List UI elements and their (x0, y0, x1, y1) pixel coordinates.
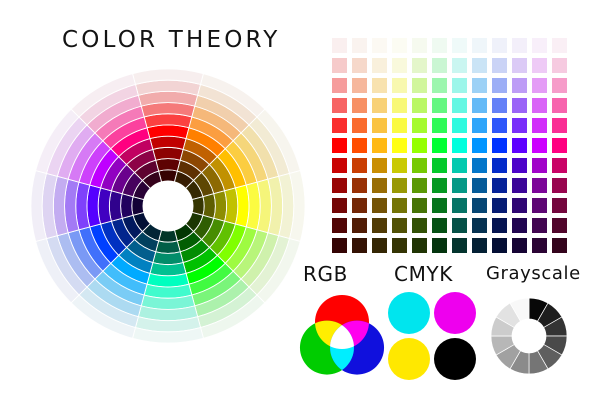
swatch-yellow-shade-5 (392, 238, 407, 253)
grayscale-wheel (491, 298, 567, 374)
swatch-pink-shade-1 (552, 158, 567, 173)
wheel-segment-pink-9 (79, 84, 138, 124)
swatch-blue-tint-4 (492, 58, 507, 73)
grayscale-segment-5 (538, 345, 562, 369)
wheel-segment-pink-8 (87, 95, 141, 133)
swatch-teal-tint-2 (452, 98, 467, 113)
swatch-yellow-pure (392, 138, 407, 153)
swatch-blue-pure (492, 138, 507, 153)
swatch-amber-pure (372, 138, 387, 153)
grayscale-segment-12 (510, 298, 529, 321)
swatch-azure-tint-1 (472, 118, 487, 133)
grayscale-segment-7 (510, 351, 529, 374)
wheel-segment-red-5 (147, 125, 189, 139)
wheel-segment-blue-9 (46, 236, 86, 295)
wheel-segment-teal-7 (141, 295, 195, 309)
wheel-segment-amber-3 (202, 165, 225, 194)
swatch-azure-tint-2 (472, 98, 487, 113)
swatch-purple-tint-1 (532, 118, 547, 133)
swatch-lime-shade-2 (412, 178, 427, 193)
wheel-segment-purple-9 (46, 117, 86, 176)
infographic-artwork (0, 0, 600, 400)
swatch-yellow-shade-2 (392, 178, 407, 193)
grayscale-label: Grayscale (486, 263, 581, 284)
wheel-segment-blue-5 (90, 224, 119, 263)
wheel-segment-amber-9 (249, 117, 289, 176)
swatch-red-shade-3 (332, 198, 347, 213)
swatch-blue-tint-5 (492, 38, 507, 53)
wheel-segment-amber-10 (257, 109, 300, 173)
swatch-amber-shade-4 (372, 218, 387, 233)
swatch-purple-shade-2 (532, 178, 547, 193)
wheel-segment-blue-2 (122, 215, 142, 239)
swatch-yellow-shade-3 (392, 198, 407, 213)
swatch-green-shade-3 (432, 198, 447, 213)
swatch-violet-shade-2 (512, 178, 527, 193)
wheel-segment-pink-7 (95, 106, 144, 141)
wheel-segment-azure-8 (87, 279, 141, 317)
wheel-segment-azure-9 (79, 287, 138, 327)
swatch-green-tint-2 (432, 98, 447, 113)
swatch-red-pure (332, 138, 347, 153)
swatch-green-shade-4 (432, 218, 447, 233)
wheel-segment-yellow-9 (279, 173, 294, 238)
swatch-purple-tint-3 (532, 78, 547, 93)
swatch-blue-shade-5 (492, 238, 507, 253)
rgb-circle-green (300, 321, 354, 375)
cmyk-circle-cyan (388, 292, 430, 334)
page-title: COLOR THEORY (62, 27, 281, 53)
swatch-azure-tint-4 (472, 58, 487, 73)
wheel-segment-lime-7 (233, 230, 268, 279)
swatch-green-tint-3 (432, 78, 447, 93)
swatch-yellow-tint-5 (392, 38, 407, 53)
swatch-yellow-shade-4 (392, 218, 407, 233)
wheel-segment-green-2 (177, 232, 201, 252)
wheel-segment-green-3 (180, 240, 209, 263)
swatch-amber-shade-2 (372, 178, 387, 193)
swatch-yellow-tint-2 (392, 98, 407, 113)
wheel-segment-red-1 (159, 170, 178, 182)
swatch-yellow-tint-1 (392, 118, 407, 133)
wheel-segment-teal-3 (153, 252, 183, 265)
wheel-segment-pink-2 (134, 160, 158, 180)
wheel-segment-pink-1 (142, 171, 161, 188)
wheel-segment-lime-10 (257, 239, 300, 303)
wheel-segment-teal-10 (133, 328, 204, 343)
rgb-circle-blue (330, 321, 384, 375)
wheel-segment-purple-5 (90, 149, 119, 188)
wheel-segment-red-7 (141, 103, 195, 117)
swatch-pink-tint-2 (552, 98, 567, 113)
wheel-segment-violet-5 (87, 185, 101, 227)
wheel-segment-pink-5 (111, 128, 150, 157)
rgb-overlap-cyan (282, 278, 402, 398)
swatch-teal-shade-4 (452, 218, 467, 233)
wheel-segment-violet-1 (132, 197, 144, 216)
swatch-lime-shade-5 (412, 238, 427, 253)
swatch-pink-tint-4 (552, 58, 567, 73)
wheel-segment-amber-4 (209, 157, 235, 191)
swatch-red-shade-1 (332, 158, 347, 173)
swatch-green-tint-5 (432, 38, 447, 53)
wheel-segment-yellow-6 (246, 182, 260, 230)
swatch-purple-tint-5 (532, 38, 547, 53)
wheel-segment-green-9 (198, 287, 257, 327)
swatch-red-shade-4 (332, 218, 347, 233)
grayscale-segment-11 (496, 303, 520, 327)
swatch-red-tint-5 (332, 38, 347, 53)
rgb-additive-diagram (282, 278, 402, 398)
swatch-orange-shade-3 (352, 198, 367, 213)
swatch-blue-shade-3 (492, 198, 507, 213)
wheel-segment-violet-9 (42, 173, 57, 238)
swatch-yellow-shade-1 (392, 158, 407, 173)
wheel-segment-orange-9 (198, 84, 257, 124)
wheel-segment-azure-6 (103, 263, 147, 295)
wheel-segment-yellow-1 (192, 197, 204, 216)
swatch-pink-pure (552, 138, 567, 153)
swatch-green-tint-1 (432, 118, 447, 133)
wheel-segment-azure-3 (127, 240, 156, 263)
wheel-segment-blue-1 (133, 212, 150, 231)
wheel-segment-green-6 (189, 263, 233, 295)
swatch-blue-shade-4 (492, 218, 507, 233)
swatch-violet-pure (512, 138, 527, 153)
swatch-violet-tint-1 (512, 118, 527, 133)
swatch-orange-shade-1 (352, 158, 367, 173)
wheel-segment-yellow-2 (203, 194, 215, 219)
wheel-segment-azure-4 (119, 247, 153, 273)
wheel-segment-yellow-5 (235, 185, 249, 227)
wheel-segment-teal-1 (159, 230, 178, 242)
swatch-grid (332, 38, 567, 253)
wheel-segment-green-1 (174, 224, 193, 241)
swatch-blue-tint-3 (492, 78, 507, 93)
swatch-blue-tint-1 (492, 118, 507, 133)
wheel-segment-blue-8 (57, 233, 95, 287)
wheel-segment-purple-3 (111, 165, 134, 194)
wheel-segment-orange-7 (192, 106, 241, 141)
color-wheel (31, 69, 305, 343)
wheel-segment-azure-10 (71, 295, 135, 338)
wheel-segment-red-10 (133, 69, 204, 84)
swatch-violet-tint-2 (512, 98, 527, 113)
grayscale-segment-6 (529, 351, 548, 374)
swatch-lime-tint-4 (412, 58, 427, 73)
swatch-lime-tint-3 (412, 78, 427, 93)
wheel-segment-violet-10 (31, 171, 46, 242)
wheel-segment-orange-3 (180, 149, 209, 172)
wheel-segment-blue-3 (111, 218, 134, 247)
swatch-orange-tint-1 (352, 118, 367, 133)
wheel-segment-amber-2 (194, 172, 214, 196)
wheel-segment-amber-5 (217, 149, 246, 188)
swatch-orange-tint-4 (352, 58, 367, 73)
swatch-pink-shade-4 (552, 218, 567, 233)
cmyk-subtractive-diagram (388, 292, 476, 380)
swatch-pink-shade-2 (552, 178, 567, 193)
wheel-segment-yellow-4 (225, 188, 238, 224)
swatch-purple-pure (532, 138, 547, 153)
swatch-yellow-tint-3 (392, 78, 407, 93)
swatch-blue-shade-2 (492, 178, 507, 193)
swatch-lime-tint-5 (412, 38, 427, 53)
swatch-teal-shade-2 (452, 178, 467, 193)
wheel-segment-red-4 (150, 136, 186, 149)
swatch-amber-shade-5 (372, 238, 387, 253)
swatch-green-shade-1 (432, 158, 447, 173)
wheel-segment-pink-6 (103, 117, 147, 149)
swatch-purple-tint-2 (532, 98, 547, 113)
wheel-segment-azure-7 (95, 271, 144, 306)
swatch-azure-shade-4 (472, 218, 487, 233)
wheel-segment-green-4 (183, 247, 217, 273)
cmyk-label: CMYK (394, 262, 453, 286)
wheel-segment-orange-4 (183, 139, 217, 165)
wheel-segment-blue-7 (68, 230, 103, 279)
swatch-amber-tint-2 (372, 98, 387, 113)
swatch-red-tint-2 (332, 98, 347, 113)
wheel-segment-purple-4 (101, 157, 127, 191)
swatch-purple-shade-5 (532, 238, 547, 253)
swatch-orange-shade-5 (352, 238, 367, 253)
wheel-segment-azure-2 (134, 232, 158, 252)
swatch-red-tint-4 (332, 58, 347, 73)
wheel-segment-azure-1 (142, 224, 161, 241)
wheel-segment-yellow-8 (268, 176, 283, 235)
wheel-segment-lime-5 (217, 224, 246, 263)
swatch-violet-shade-1 (512, 158, 527, 173)
rgb-circle-red (315, 295, 369, 349)
wheel-segment-lime-3 (202, 218, 225, 247)
wheel-segment-orange-10 (201, 74, 265, 117)
grayscale-segment-8 (496, 345, 520, 369)
wheel-segment-purple-1 (133, 180, 150, 199)
wheel-segment-yellow-3 (214, 191, 227, 221)
swatch-red-tint-1 (332, 118, 347, 133)
swatch-azure-shade-2 (472, 178, 487, 193)
wheel-segment-teal-2 (156, 241, 181, 253)
wheel-segment-green-5 (186, 255, 225, 284)
swatch-azure-tint-5 (472, 38, 487, 53)
swatch-lime-shade-1 (412, 158, 427, 173)
swatch-red-shade-2 (332, 178, 347, 193)
wheel-segment-lime-6 (225, 227, 257, 271)
swatch-lime-pure (412, 138, 427, 153)
swatch-teal-shade-1 (452, 158, 467, 173)
swatch-lime-tint-2 (412, 98, 427, 113)
swatch-orange-pure (352, 138, 367, 153)
rgb-label: RGB (303, 262, 348, 286)
swatch-violet-tint-3 (512, 78, 527, 93)
wheel-segment-azure-5 (111, 255, 150, 284)
rgb-overlap-yellow (282, 278, 402, 398)
swatch-teal-shade-3 (452, 198, 467, 213)
wheel-segment-orange-5 (186, 128, 225, 157)
grayscale-segment-1 (529, 298, 548, 321)
swatch-green-pure (432, 138, 447, 153)
swatch-purple-shade-3 (532, 198, 547, 213)
wheel-segment-red-9 (135, 80, 200, 95)
swatch-blue-tint-2 (492, 98, 507, 113)
swatch-purple-shade-1 (532, 158, 547, 173)
wheel-segment-teal-6 (144, 284, 192, 298)
wheel-segment-green-10 (201, 295, 265, 338)
wheel-segment-violet-7 (65, 179, 79, 233)
wheel-segment-red-6 (144, 114, 192, 128)
wheel-segment-orange-6 (189, 117, 233, 149)
wheel-segment-lime-4 (209, 221, 235, 255)
swatch-azure-shade-5 (472, 238, 487, 253)
wheel-segment-red-2 (156, 159, 181, 171)
swatch-violet-shade-3 (512, 198, 527, 213)
swatch-green-shade-2 (432, 178, 447, 193)
wheel-segment-blue-4 (101, 221, 127, 255)
swatch-yellow-tint-4 (392, 58, 407, 73)
wheel-segment-green-8 (195, 279, 249, 317)
wheel-segment-orange-8 (195, 95, 249, 133)
wheel-segment-orange-1 (174, 171, 193, 188)
wheel-segment-yellow-7 (257, 179, 271, 233)
swatch-pink-tint-3 (552, 78, 567, 93)
swatch-amber-shade-3 (372, 198, 387, 213)
wheel-segment-teal-8 (138, 306, 197, 321)
wheel-segment-teal-9 (135, 317, 200, 332)
wheel-segment-lime-8 (241, 233, 279, 287)
wheel-segment-blue-10 (36, 239, 79, 303)
swatch-pink-shade-3 (552, 198, 567, 213)
wheel-segment-violet-8 (53, 176, 68, 235)
grayscale-segment-2 (538, 303, 562, 327)
swatch-blue-shade-1 (492, 158, 507, 173)
color-theory-infographic: COLOR THEORY RGB CMYK Grayscale (0, 0, 600, 400)
swatch-violet-shade-5 (512, 238, 527, 253)
wheel-segment-violet-6 (76, 182, 90, 230)
swatch-orange-shade-4 (352, 218, 367, 233)
swatch-red-shade-5 (332, 238, 347, 253)
swatch-teal-tint-4 (452, 58, 467, 73)
wheel-segment-lime-1 (186, 212, 203, 231)
wheel-segment-purple-6 (79, 141, 111, 185)
swatch-lime-shade-3 (412, 198, 427, 213)
grayscale-segment-3 (544, 317, 567, 336)
swatch-amber-tint-5 (372, 38, 387, 53)
rgb-overlap-magenta (282, 278, 402, 398)
swatch-teal-tint-5 (452, 38, 467, 53)
wheel-segment-amber-7 (233, 133, 268, 182)
swatch-lime-shade-4 (412, 218, 427, 233)
swatch-azure-pure (472, 138, 487, 153)
wheel-segment-blue-6 (79, 227, 111, 271)
swatch-pink-shade-5 (552, 238, 567, 253)
wheel-segment-lime-9 (249, 236, 289, 295)
wheel-segment-green-7 (192, 271, 241, 306)
wheel-segment-violet-3 (109, 191, 122, 221)
wheel-segment-violet-4 (98, 188, 111, 224)
swatch-lime-tint-1 (412, 118, 427, 133)
wheel-segment-lime-2 (194, 215, 214, 239)
swatch-orange-tint-5 (352, 38, 367, 53)
swatch-violet-tint-5 (512, 38, 527, 53)
wheel-segment-pink-4 (119, 139, 153, 165)
wheel-hub (143, 181, 193, 231)
wheel-segment-red-3 (153, 147, 183, 160)
wheel-segment-teal-4 (150, 263, 186, 276)
swatch-red-tint-3 (332, 78, 347, 93)
wheel-segment-amber-1 (186, 180, 203, 199)
swatch-teal-tint-3 (452, 78, 467, 93)
wheel-segment-purple-10 (36, 109, 79, 173)
swatch-amber-tint-3 (372, 78, 387, 93)
wheel-segment-amber-6 (225, 141, 257, 185)
swatch-azure-shade-3 (472, 198, 487, 213)
swatch-pink-tint-1 (552, 118, 567, 133)
swatch-teal-pure (452, 138, 467, 153)
grayscale-hub (512, 319, 546, 353)
wheel-segment-yellow-10 (290, 171, 305, 242)
grayscale-segment-4 (544, 336, 567, 355)
swatch-violet-tint-4 (512, 58, 527, 73)
cmyk-circle-key-black (434, 338, 476, 380)
wheel-segment-purple-7 (68, 133, 103, 182)
swatch-orange-tint-3 (352, 78, 367, 93)
cmyk-circle-magenta (434, 292, 476, 334)
wheel-segment-purple-8 (57, 125, 95, 179)
wheel-segment-pink-3 (127, 149, 156, 172)
rgb-overlap-white (282, 278, 402, 398)
swatch-azure-shade-1 (472, 158, 487, 173)
wheel-segment-red-8 (138, 91, 197, 106)
grayscale-segment-10 (491, 317, 514, 336)
swatch-azure-tint-3 (472, 78, 487, 93)
wheel-segment-violet-2 (121, 194, 133, 219)
wheel-segment-purple-2 (122, 172, 142, 196)
wheel-segment-orange-2 (177, 160, 201, 180)
swatch-orange-tint-2 (352, 98, 367, 113)
swatch-teal-tint-1 (452, 118, 467, 133)
swatch-amber-tint-4 (372, 58, 387, 73)
swatch-amber-shade-1 (372, 158, 387, 173)
swatch-violet-shade-4 (512, 218, 527, 233)
wheel-segment-teal-5 (147, 273, 189, 287)
swatch-green-shade-5 (432, 238, 447, 253)
swatch-amber-tint-1 (372, 118, 387, 133)
wheel-segment-pink-10 (71, 74, 135, 117)
swatch-orange-shade-2 (352, 178, 367, 193)
swatch-purple-shade-4 (532, 218, 547, 233)
swatch-teal-shade-5 (452, 238, 467, 253)
cmyk-circle-yellow (388, 338, 430, 380)
swatch-pink-tint-5 (552, 38, 567, 53)
swatch-purple-tint-4 (532, 58, 547, 73)
grayscale-segment-9 (491, 336, 514, 355)
wheel-segment-amber-8 (241, 125, 279, 179)
swatch-green-tint-4 (432, 58, 447, 73)
